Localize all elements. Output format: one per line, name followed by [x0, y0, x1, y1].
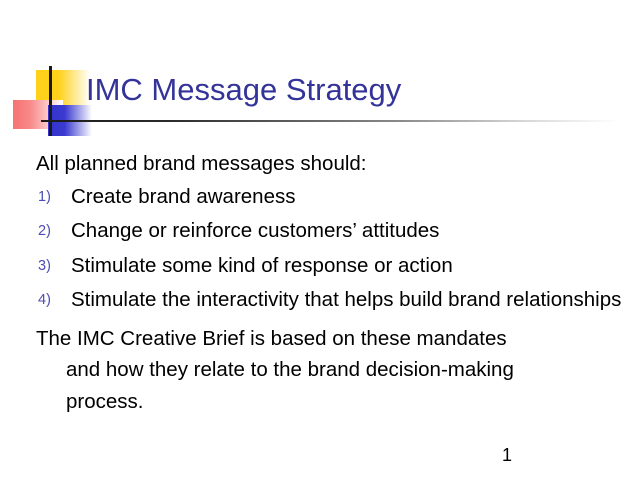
list-item-label: Stimulate some kind of response or actio…	[71, 254, 453, 277]
list-item: 2) Change or reinforce customers’ attitu…	[36, 215, 628, 247]
list-item: 4) Stimulate the interactivity that help…	[36, 284, 628, 316]
closing-line-3: process.	[36, 386, 628, 418]
decoration-yellow-rectangle	[36, 70, 90, 106]
slide-canvas: IMC Message Strategy All planned brand m…	[0, 0, 640, 480]
numbered-list: 1) Create brand awareness 2) Change or r…	[36, 181, 628, 316]
list-item-label: Create brand awareness	[71, 185, 296, 208]
title-underline-rule	[41, 120, 619, 122]
slide-body: All planned brand messages should: 1) Cr…	[36, 148, 628, 417]
closing-line-2: and how they relate to the brand decisio…	[36, 354, 628, 386]
decoration-vertical-line	[49, 66, 52, 136]
list-item-marker: 3)	[38, 253, 66, 279]
list-item-label: Change or reinforce customers’ attitudes	[71, 219, 439, 242]
list-item-marker: 2)	[38, 218, 66, 244]
slide-title: IMC Message Strategy	[86, 73, 401, 107]
list-item-marker: 4)	[38, 287, 66, 313]
list-item-label: Stimulate the interactivity that helps b…	[71, 288, 621, 311]
body-lead-text: All planned brand messages should:	[36, 148, 628, 180]
list-item-marker: 1)	[38, 184, 66, 210]
closing-line-1: The IMC Creative Brief is based on these…	[36, 327, 507, 350]
decoration-red-rectangle	[13, 100, 63, 129]
list-item: 3) Stimulate some kind of response or ac…	[36, 250, 628, 282]
list-item: 1) Create brand awareness	[36, 181, 628, 213]
slide-number: 1	[497, 444, 517, 466]
closing-paragraph: The IMC Creative Brief is based on these…	[36, 323, 628, 418]
decoration-blue-rectangle	[48, 105, 92, 136]
